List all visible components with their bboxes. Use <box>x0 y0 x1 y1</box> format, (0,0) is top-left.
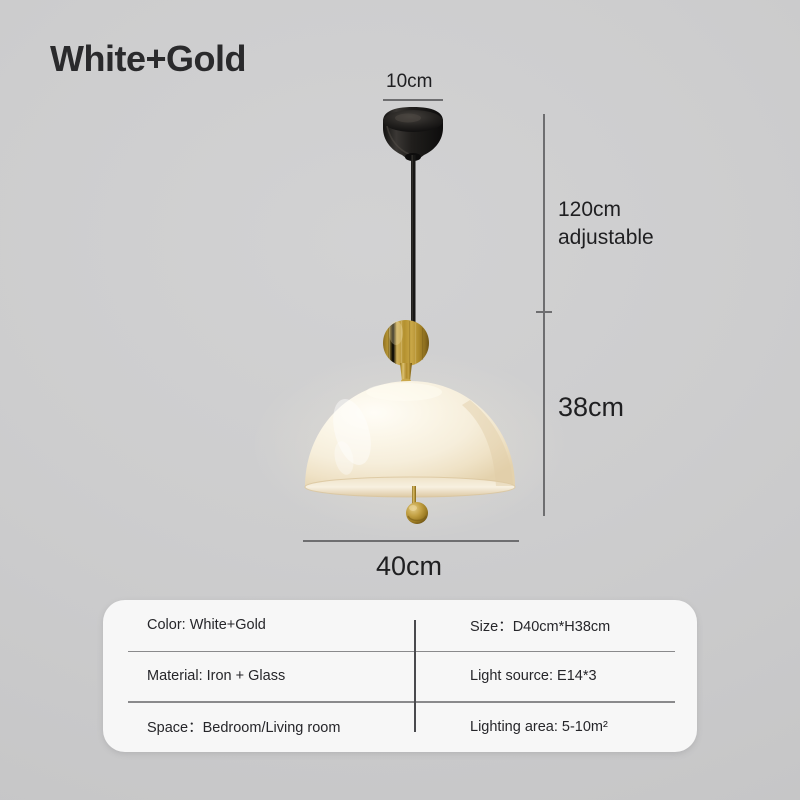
cord-length-note: adjustable <box>558 224 654 252</box>
table-row: Material: Iron + Glass Light source: E14… <box>103 651 697 702</box>
spec-lighting-area: Lighting area: 5-10m² <box>414 719 608 735</box>
product-spec-image: White+Gold <box>0 0 800 800</box>
brass-sphere-fitting <box>383 320 429 383</box>
table-row: Space：Bedroom/Living room Lighting area:… <box>103 701 697 752</box>
dimension-label-shade-width: 40cm <box>376 551 442 582</box>
specification-card: Color: White+Gold Size：D40cm*H38cm Mater… <box>103 600 697 752</box>
glass-dome-shade <box>305 381 515 497</box>
dimension-line-vertical <box>543 114 545 516</box>
spec-size: Size：D40cm*H38cm <box>414 615 610 636</box>
cord-length-value: 120cm <box>558 196 654 224</box>
brass-ball-finial <box>406 486 428 524</box>
page-title: White+Gold <box>50 38 246 80</box>
dimension-label-canopy-width: 10cm <box>386 71 432 93</box>
spec-material: Material: Iron + Glass <box>103 668 414 684</box>
dimension-tick-mark <box>536 311 552 313</box>
table-vertical-divider <box>414 620 416 732</box>
spec-space: Space：Bedroom/Living room <box>103 716 414 737</box>
spec-light-source: Light source: E14*3 <box>414 668 597 684</box>
spec-color: Color: White+Gold <box>103 617 414 633</box>
dimension-line-shade-width <box>303 540 519 542</box>
ceiling-canopy <box>383 107 443 161</box>
hanging-cord <box>411 155 416 325</box>
dimension-line-canopy-width <box>383 99 443 101</box>
table-row: Color: White+Gold Size：D40cm*H38cm <box>103 600 697 651</box>
dimension-label-shade-height: 38cm <box>558 392 624 423</box>
specification-table: Color: White+Gold Size：D40cm*H38cm Mater… <box>103 600 697 752</box>
dimension-label-cord-length: 120cm adjustable <box>558 196 654 252</box>
